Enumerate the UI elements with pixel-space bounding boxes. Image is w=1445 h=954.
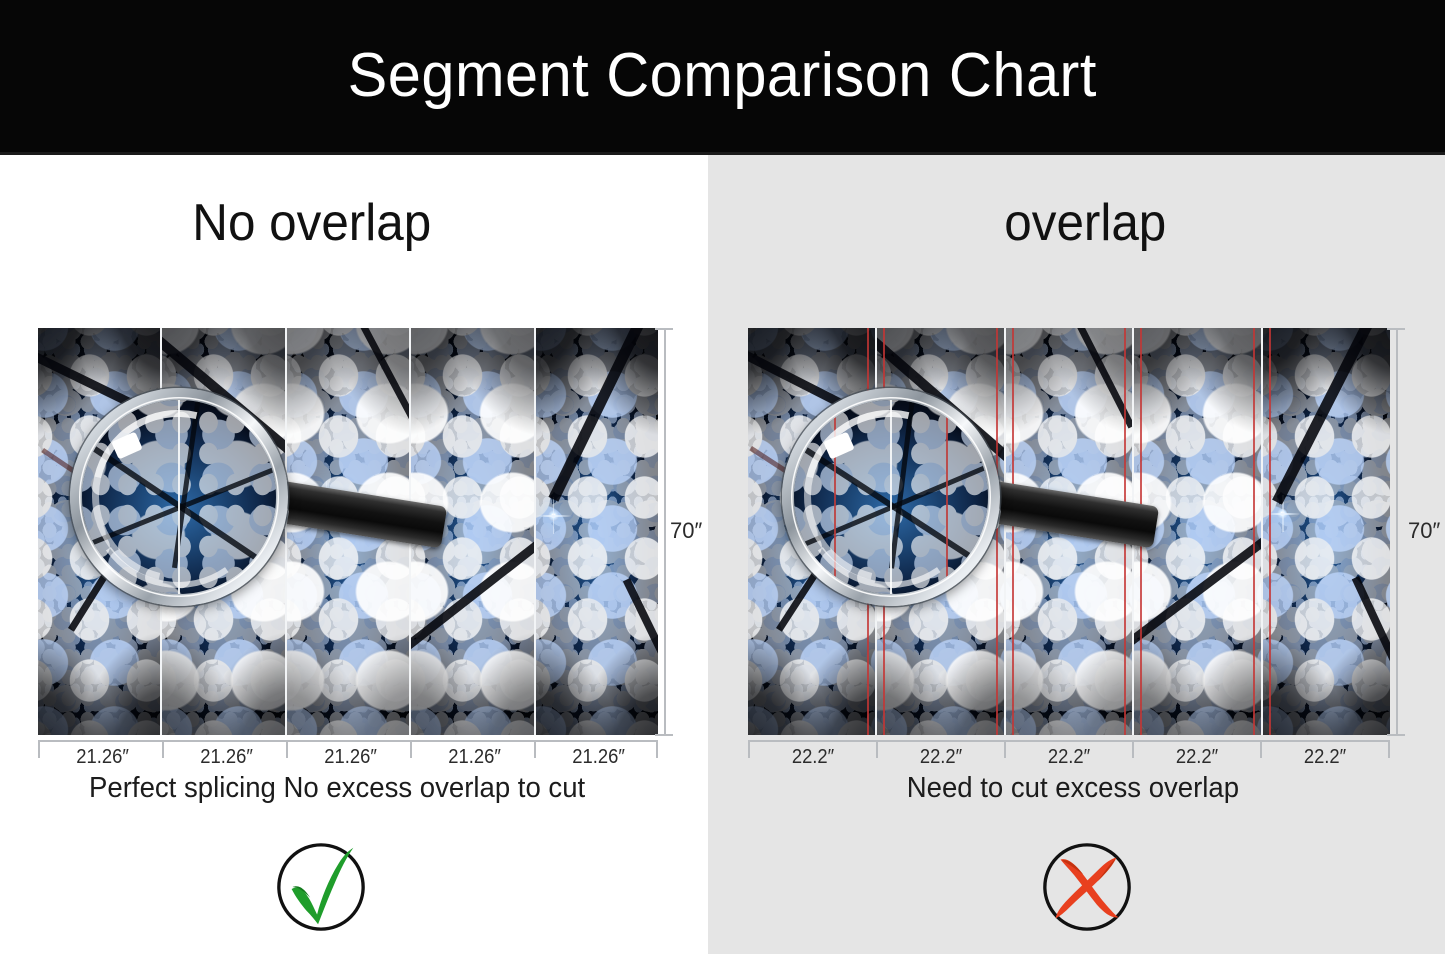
segment-width-label: 21.26″ bbox=[76, 747, 129, 767]
dimension-tick bbox=[876, 740, 878, 758]
dimension-tick bbox=[410, 740, 412, 758]
mural-segment bbox=[162, 328, 286, 735]
overlap-marker-line bbox=[867, 328, 869, 735]
segment-width-label: 22.2″ bbox=[920, 747, 962, 767]
mural-segment bbox=[877, 328, 1006, 735]
mural-segment bbox=[1134, 328, 1263, 735]
bright-star-icon bbox=[1042, 496, 1053, 507]
green-check-icon bbox=[272, 838, 370, 936]
overlap-marker-line bbox=[1012, 328, 1014, 735]
height-label: 70″ bbox=[1408, 520, 1440, 542]
page-title: Segment Comparison Chart bbox=[348, 45, 1097, 107]
overlap-marker-line bbox=[1140, 328, 1142, 735]
red-cross-icon bbox=[1038, 838, 1136, 936]
mural-segment bbox=[536, 328, 658, 735]
tree-canopy-silhouette bbox=[287, 328, 409, 735]
panel-overlap: overlap bbox=[708, 155, 1445, 954]
overlap-marker-line bbox=[1124, 328, 1126, 735]
mural-no-overlap bbox=[38, 328, 658, 735]
segment-width-label: 21.26″ bbox=[448, 747, 501, 767]
width-dimension-line bbox=[38, 740, 658, 742]
caption-overlap: Need to cut excess overlap bbox=[907, 774, 1239, 803]
tree-canopy-silhouette bbox=[1134, 328, 1261, 735]
overlap-marker-line bbox=[996, 328, 998, 735]
dimension-tick bbox=[1387, 734, 1405, 736]
tree-canopy-silhouette bbox=[411, 328, 533, 735]
mural-segment bbox=[748, 328, 877, 735]
height-dimension-line bbox=[664, 328, 666, 735]
segment-width-label: 22.2″ bbox=[1048, 747, 1090, 767]
dimension-tick bbox=[655, 734, 673, 736]
comparison-body: No overlap bbox=[0, 155, 1445, 954]
segment-width-label: 21.26″ bbox=[200, 747, 253, 767]
mural-segment bbox=[38, 328, 162, 735]
segment-width-label: 22.2″ bbox=[1304, 747, 1346, 767]
height-label: 70″ bbox=[670, 520, 702, 542]
bright-star-icon bbox=[548, 510, 559, 521]
segment-width-label: 21.26″ bbox=[324, 747, 377, 767]
width-dimension-line bbox=[748, 740, 1390, 742]
mural-segment bbox=[1263, 328, 1390, 735]
segment-width-label: 22.2″ bbox=[792, 747, 834, 767]
caption-no-overlap: Perfect splicing No excess overlap to cu… bbox=[89, 774, 585, 803]
dimension-tick bbox=[162, 740, 164, 758]
dimension-tick bbox=[1260, 740, 1262, 758]
mural-overlap bbox=[748, 328, 1390, 735]
tree-canopy-silhouette bbox=[877, 328, 1004, 735]
dimension-tick bbox=[1387, 328, 1405, 330]
mural-segment bbox=[411, 328, 535, 735]
dimension-tick bbox=[38, 740, 40, 758]
title-bar: Segment Comparison Chart bbox=[0, 0, 1445, 152]
overlap-marker-line bbox=[1253, 328, 1255, 735]
mural-segment bbox=[1006, 328, 1135, 735]
segment-width-label: 22.2″ bbox=[1176, 747, 1218, 767]
dimension-tick bbox=[286, 740, 288, 758]
dimension-tick bbox=[534, 740, 536, 758]
panel-no-overlap: No overlap bbox=[0, 155, 708, 954]
height-dimension-line bbox=[1396, 328, 1398, 735]
dimension-tick bbox=[656, 740, 658, 758]
dimension-tick bbox=[748, 740, 750, 758]
dimension-tick bbox=[655, 328, 673, 330]
overlap-marker-line bbox=[1269, 328, 1271, 735]
mural-segment bbox=[287, 328, 411, 735]
segment-width-label: 21.26″ bbox=[572, 747, 625, 767]
panel-heading-overlap: overlap bbox=[1004, 197, 1166, 249]
dimension-tick bbox=[1132, 740, 1134, 758]
panel-heading-no-overlap: No overlap bbox=[192, 197, 431, 249]
overlap-marker-line bbox=[883, 328, 885, 735]
segment-comparison-chart-page: Segment Comparison Chart No overlap bbox=[0, 0, 1445, 954]
bright-star-icon bbox=[321, 494, 332, 505]
dimension-tick bbox=[1388, 740, 1390, 758]
dimension-tick bbox=[1004, 740, 1006, 758]
